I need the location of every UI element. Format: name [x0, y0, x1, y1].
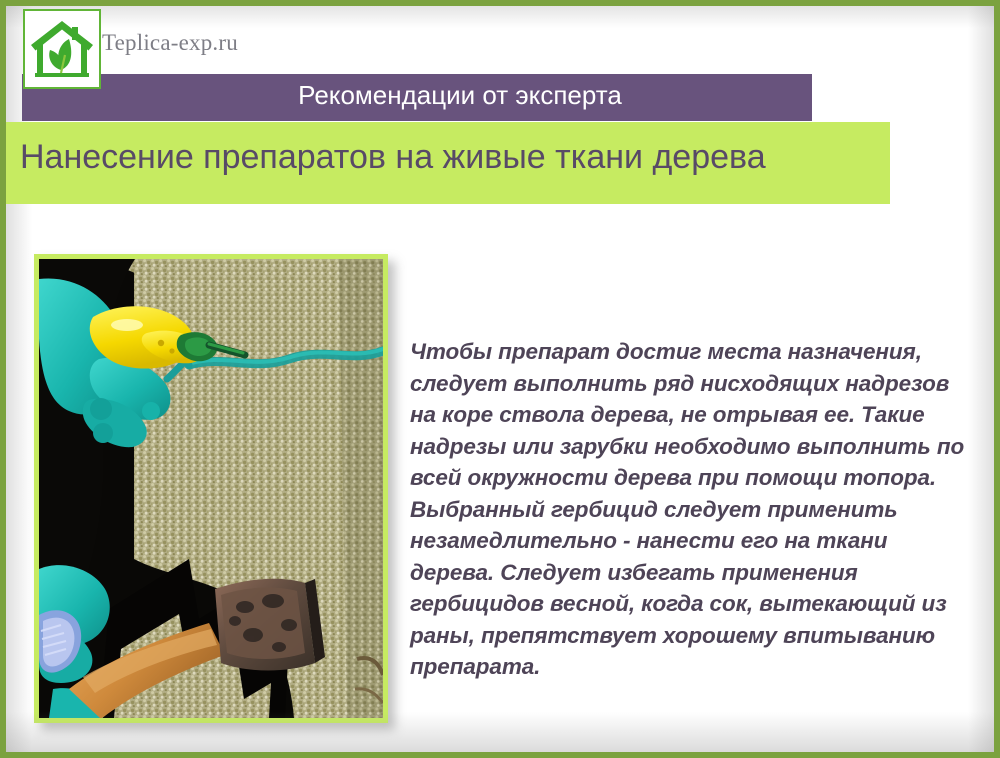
- photo-tree-treatment: [39, 259, 383, 718]
- expert-recommendation-banner: Рекомендации от эксперта: [22, 74, 812, 121]
- page-title-band: Нанесение препаратов на живые ткани дере…: [6, 122, 890, 204]
- page-content-area: Teplica-exp.ru: [6, 6, 994, 752]
- article-paragraph: Чтобы препарат достиг места назначения, …: [410, 336, 972, 683]
- page-title: Нанесение препаратов на живые ткани дере…: [20, 138, 766, 177]
- slide-page: Teplica-exp.ru: [0, 0, 1000, 758]
- illustration-photo: [34, 254, 388, 723]
- expert-recommendation-label: Рекомендации от эксперта: [22, 80, 812, 111]
- green-house-with-leaves-icon: [25, 11, 99, 87]
- site-brand-name: Teplica-exp.ru: [102, 30, 238, 56]
- site-logo: [23, 9, 101, 89]
- brand-bar: Teplica-exp.ru: [6, 6, 994, 74]
